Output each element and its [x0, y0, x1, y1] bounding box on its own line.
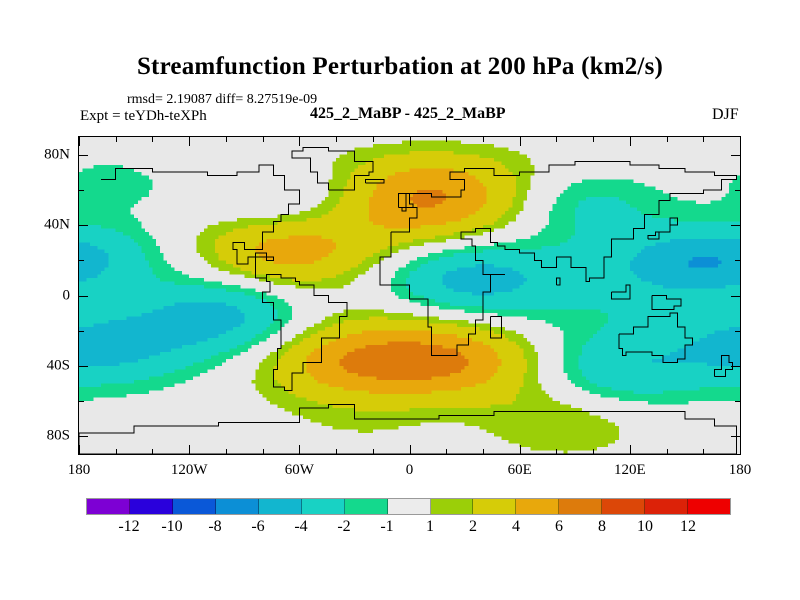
- colorbar-cell-2: [173, 499, 216, 514]
- tick-mark: [79, 137, 80, 146]
- colorbar-cell-4: [259, 499, 302, 514]
- tick-mark: [731, 366, 740, 367]
- tick-mark: [116, 137, 117, 142]
- tick-mark: [703, 137, 704, 142]
- tick-mark: [79, 331, 84, 332]
- colorbar-label-1: -10: [161, 518, 182, 536]
- colorbar-cell-9: [473, 499, 516, 514]
- tick-mark: [667, 137, 668, 142]
- tick-mark: [740, 445, 741, 454]
- colorbar-cell-3: [216, 499, 259, 514]
- contour-band-3: [689, 257, 722, 268]
- colorbar-label-5: -2: [337, 518, 350, 536]
- colorbar-cell-10: [516, 499, 559, 514]
- colorbar-cell-14: [688, 499, 730, 514]
- experiment-label: Expt = teYDh-teXPh: [80, 108, 207, 125]
- tick-mark: [336, 137, 337, 142]
- y-tick-label-1: 40N: [24, 217, 70, 234]
- tick-mark: [189, 137, 190, 146]
- y-tick-label-2: 0: [24, 287, 70, 304]
- x-tick-label-3: 0: [406, 462, 414, 479]
- tick-mark: [740, 137, 741, 146]
- tick-mark: [79, 155, 88, 156]
- colorbar: [86, 498, 731, 515]
- tick-mark: [79, 436, 88, 437]
- tick-mark: [410, 137, 411, 146]
- x-tick-label-0: 180: [68, 462, 91, 479]
- tick-mark: [446, 137, 447, 142]
- tick-mark: [299, 137, 300, 146]
- tick-mark: [593, 449, 594, 454]
- colorbar-label-13: 12: [680, 518, 696, 536]
- tick-mark: [299, 445, 300, 454]
- stats-label: rmsd= 2.19087 diff= 8.27519e-09: [127, 92, 317, 108]
- figure-root: Streamfunction Perturbation at 200 hPa (…: [0, 0, 800, 600]
- colorbar-label-11: 8: [598, 518, 606, 536]
- tick-mark: [226, 449, 227, 454]
- tick-mark: [593, 137, 594, 142]
- tick-mark: [735, 401, 740, 402]
- colorbar-label-12: 10: [637, 518, 653, 536]
- colorbar-label-9: 4: [512, 518, 520, 536]
- colorbar-cell-11: [559, 499, 602, 514]
- map-plot-area: [78, 136, 741, 455]
- colorbar-cell-12: [602, 499, 645, 514]
- tick-mark: [731, 436, 740, 437]
- tick-mark: [731, 225, 740, 226]
- colorbar-label-3: -6: [251, 518, 264, 536]
- colorbar-cell-7: [388, 499, 431, 514]
- tick-mark: [79, 225, 88, 226]
- tick-mark: [79, 190, 84, 191]
- season-label: DJF: [712, 106, 739, 124]
- tick-mark: [735, 190, 740, 191]
- tick-mark: [520, 445, 521, 454]
- colorbar-cell-5: [302, 499, 345, 514]
- tick-mark: [79, 401, 84, 402]
- colorbar-cell-13: [645, 499, 688, 514]
- tick-mark: [731, 296, 740, 297]
- x-tick-label-2: 60W: [285, 462, 314, 479]
- tick-mark: [483, 137, 484, 142]
- colorbar-cell-6: [345, 499, 388, 514]
- colorbar-cell-1: [130, 499, 173, 514]
- x-tick-label-1: 120W: [171, 462, 208, 479]
- tick-mark: [735, 331, 740, 332]
- tick-mark: [703, 449, 704, 454]
- x-tick-label-6: 180: [729, 462, 752, 479]
- tick-mark: [630, 137, 631, 146]
- y-tick-label-4: 80S: [24, 428, 70, 445]
- tick-mark: [483, 449, 484, 454]
- tick-mark: [79, 296, 88, 297]
- y-tick-label-3: 40S: [24, 357, 70, 374]
- tick-mark: [79, 366, 88, 367]
- tick-mark: [630, 445, 631, 454]
- tick-mark: [152, 137, 153, 142]
- y-tick-label-0: 80N: [24, 146, 70, 163]
- tick-mark: [556, 449, 557, 454]
- tick-mark: [556, 137, 557, 142]
- tick-mark: [373, 449, 374, 454]
- tick-mark: [263, 449, 264, 454]
- tick-mark: [116, 449, 117, 454]
- colorbar-label-0: -12: [118, 518, 139, 536]
- colorbar-label-6: -1: [380, 518, 393, 536]
- colorbar-label-10: 6: [555, 518, 563, 536]
- contour-field: [79, 137, 740, 454]
- tick-mark: [79, 260, 84, 261]
- page-title: Streamfunction Perturbation at 200 hPa (…: [0, 53, 800, 81]
- tick-mark: [731, 155, 740, 156]
- colorbar-label-4: -4: [294, 518, 307, 536]
- colorbar-label-8: 2: [469, 518, 477, 536]
- tick-mark: [667, 449, 668, 454]
- colorbar-label-2: -8: [208, 518, 221, 536]
- x-tick-label-5: 120E: [614, 462, 646, 479]
- tick-mark: [446, 449, 447, 454]
- tick-mark: [152, 449, 153, 454]
- x-tick-label-4: 60E: [508, 462, 532, 479]
- case-label: 425_2_MaBP - 425_2_MaBP: [310, 105, 506, 123]
- tick-mark: [336, 449, 337, 454]
- tick-mark: [263, 137, 264, 142]
- tick-mark: [226, 137, 227, 142]
- tick-mark: [189, 445, 190, 454]
- colorbar-label-7: 1: [426, 518, 434, 536]
- tick-mark: [735, 260, 740, 261]
- tick-mark: [79, 445, 80, 454]
- colorbar-cell-0: [87, 499, 130, 514]
- tick-mark: [373, 137, 374, 142]
- tick-mark: [520, 137, 521, 146]
- colorbar-cell-8: [431, 499, 474, 514]
- tick-mark: [410, 445, 411, 454]
